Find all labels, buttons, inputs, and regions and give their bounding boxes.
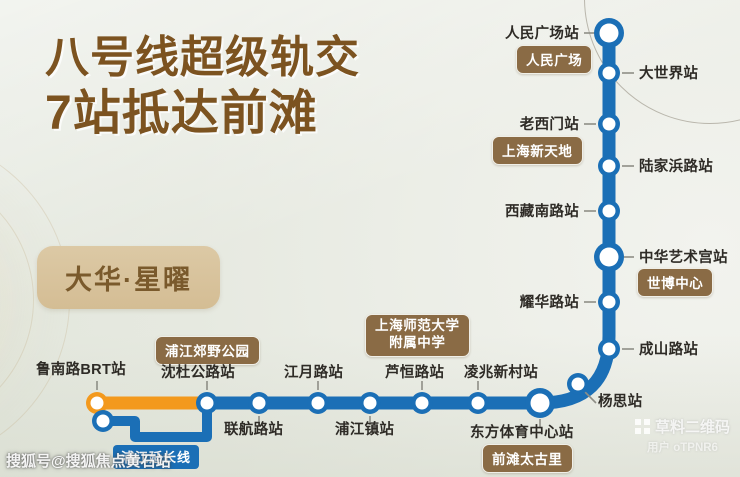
- landmark-tag-renmin-guangchang: 人民广场: [516, 45, 592, 74]
- station-label-lingzhao-xincun[interactable]: 凌兆新村站: [464, 361, 538, 382]
- watermark-bottom-right: 草料二维码 用户 oTPNR6: [635, 416, 730, 455]
- landmark-tag-shida-fuzhong: 上海师范大学 附属中学: [365, 314, 470, 357]
- station-label-luheng-lu[interactable]: 芦恒路站: [385, 361, 444, 382]
- station-label-jiangyue-lu[interactable]: 江月路站: [284, 361, 343, 382]
- watermark-user-id: 用户 oTPNR6: [635, 439, 730, 455]
- station-label-zhonghua-yishugong[interactable]: 中华艺术宫站: [639, 246, 728, 267]
- qr-code-icon: [635, 419, 650, 434]
- station-label-laoximen[interactable]: 老西门站: [520, 113, 579, 134]
- station-label-yaohua-lu[interactable]: 耀华路站: [520, 291, 579, 312]
- station-label-pujiang-zhen[interactable]: 浦江镇站: [335, 418, 394, 439]
- station-label-lunan-lu-brt[interactable]: 鲁南路BRT站: [36, 358, 126, 379]
- station-label-dashijie[interactable]: 大世界站: [639, 62, 698, 83]
- poster-canvas: 八号线超级轨交 7站抵达前滩 大华·星曜: [0, 0, 740, 477]
- landmark-tag-shibo-zhongxin: 世博中心: [637, 268, 713, 297]
- landmark-tag-xintiandi: 上海新天地: [492, 136, 583, 165]
- station-label-renmin-guangchang[interactable]: 人民广场站: [505, 22, 579, 43]
- station-label-dongfang-tiyu-zhongxin[interactable]: 东方体育中心站: [470, 421, 574, 442]
- station-label-chengshan-lu[interactable]: 成山路站: [639, 338, 698, 359]
- watermark-brand-name: 草料二维码: [655, 416, 730, 437]
- station-label-shendu-gonglu[interactable]: 沈杜公路站: [161, 361, 235, 382]
- landmark-tag-shida-fuzhong-line1: 上海师范大学: [375, 318, 460, 335]
- station-label-yangsi[interactable]: 杨思站: [598, 390, 642, 411]
- landmark-tag-qiantan-taikooli: 前滩太古里: [482, 444, 573, 473]
- landmark-tag-shida-fuzhong-line2: 附属中学: [375, 335, 460, 352]
- station-label-xizang-nanlu[interactable]: 西藏南路站: [505, 200, 579, 221]
- watermark-bottom-left: 搜狐号@搜狐焦点黄石站: [6, 450, 171, 471]
- station-label-lianhang-lu[interactable]: 联航路站: [224, 418, 283, 439]
- station-label-lujiabang-lu[interactable]: 陆家浜路站: [639, 155, 713, 176]
